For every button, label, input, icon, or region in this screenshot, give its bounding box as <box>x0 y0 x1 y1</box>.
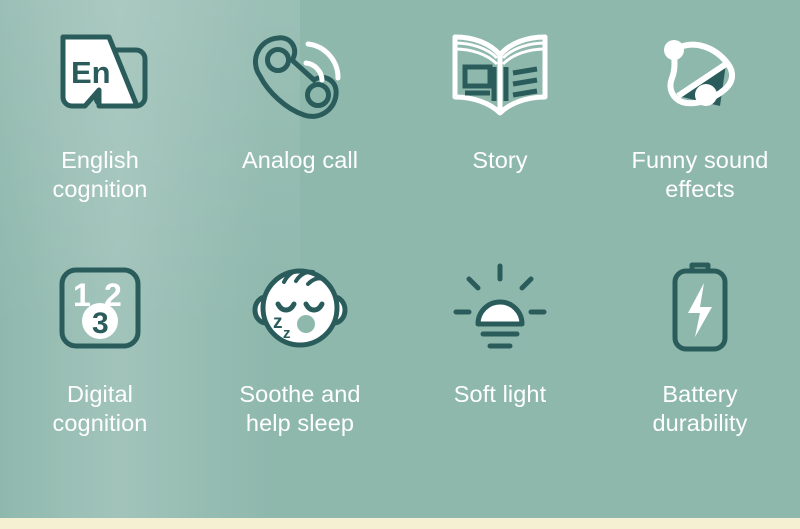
feature-item-english-cognition: En English cognition <box>0 22 200 254</box>
feature-item-digital-cognition: 1 2 3 Digital cognition <box>0 254 200 486</box>
feature-label-analog-call: Analog call <box>242 146 358 175</box>
digit-three: 3 <box>92 307 109 340</box>
feature-label-funny-sound-effects: Funny sound effects <box>632 146 769 204</box>
battery-bolt-icon <box>635 254 765 362</box>
feature-item-analog-call: Analog call <box>200 22 400 254</box>
sleeping-baby-face-icon: z z <box>235 254 365 362</box>
feature-label-battery-durability: Battery durability <box>652 380 747 438</box>
feature-item-soothe-help-sleep: z z Soothe and help sleep <box>200 254 400 486</box>
open-book-story-icon <box>435 22 565 130</box>
feature-grid: En English cognition Analog call <box>0 0 800 518</box>
feature-label-soft-light: Soft light <box>454 380 546 409</box>
feature-label-digital-cognition: Digital cognition <box>53 380 148 438</box>
snore-z-large: z <box>273 312 283 333</box>
numbers-123-icon: 1 2 3 <box>35 254 165 362</box>
bell-sound-effects-icon <box>635 22 765 130</box>
feature-item-soft-light: Soft light <box>400 254 600 486</box>
feature-item-funny-sound-effects: Funny sound effects <box>600 22 800 254</box>
feature-poster: En English cognition Analog call <box>0 0 800 529</box>
feature-item-battery-durability: Battery durability <box>600 254 800 486</box>
en-language-card-icon: En <box>35 22 165 130</box>
feature-item-story: Story <box>400 22 600 254</box>
analog-phone-call-icon <box>235 22 365 130</box>
feature-label-story: Story <box>472 146 527 175</box>
light-bulb-icon <box>435 254 565 362</box>
bottom-accent-strip <box>0 518 800 529</box>
en-icon-text: En <box>71 55 111 90</box>
snore-z-small: z <box>283 325 291 342</box>
feature-label-soothe-help-sleep: Soothe and help sleep <box>239 380 360 438</box>
feature-label-english-cognition: English cognition <box>53 146 148 204</box>
